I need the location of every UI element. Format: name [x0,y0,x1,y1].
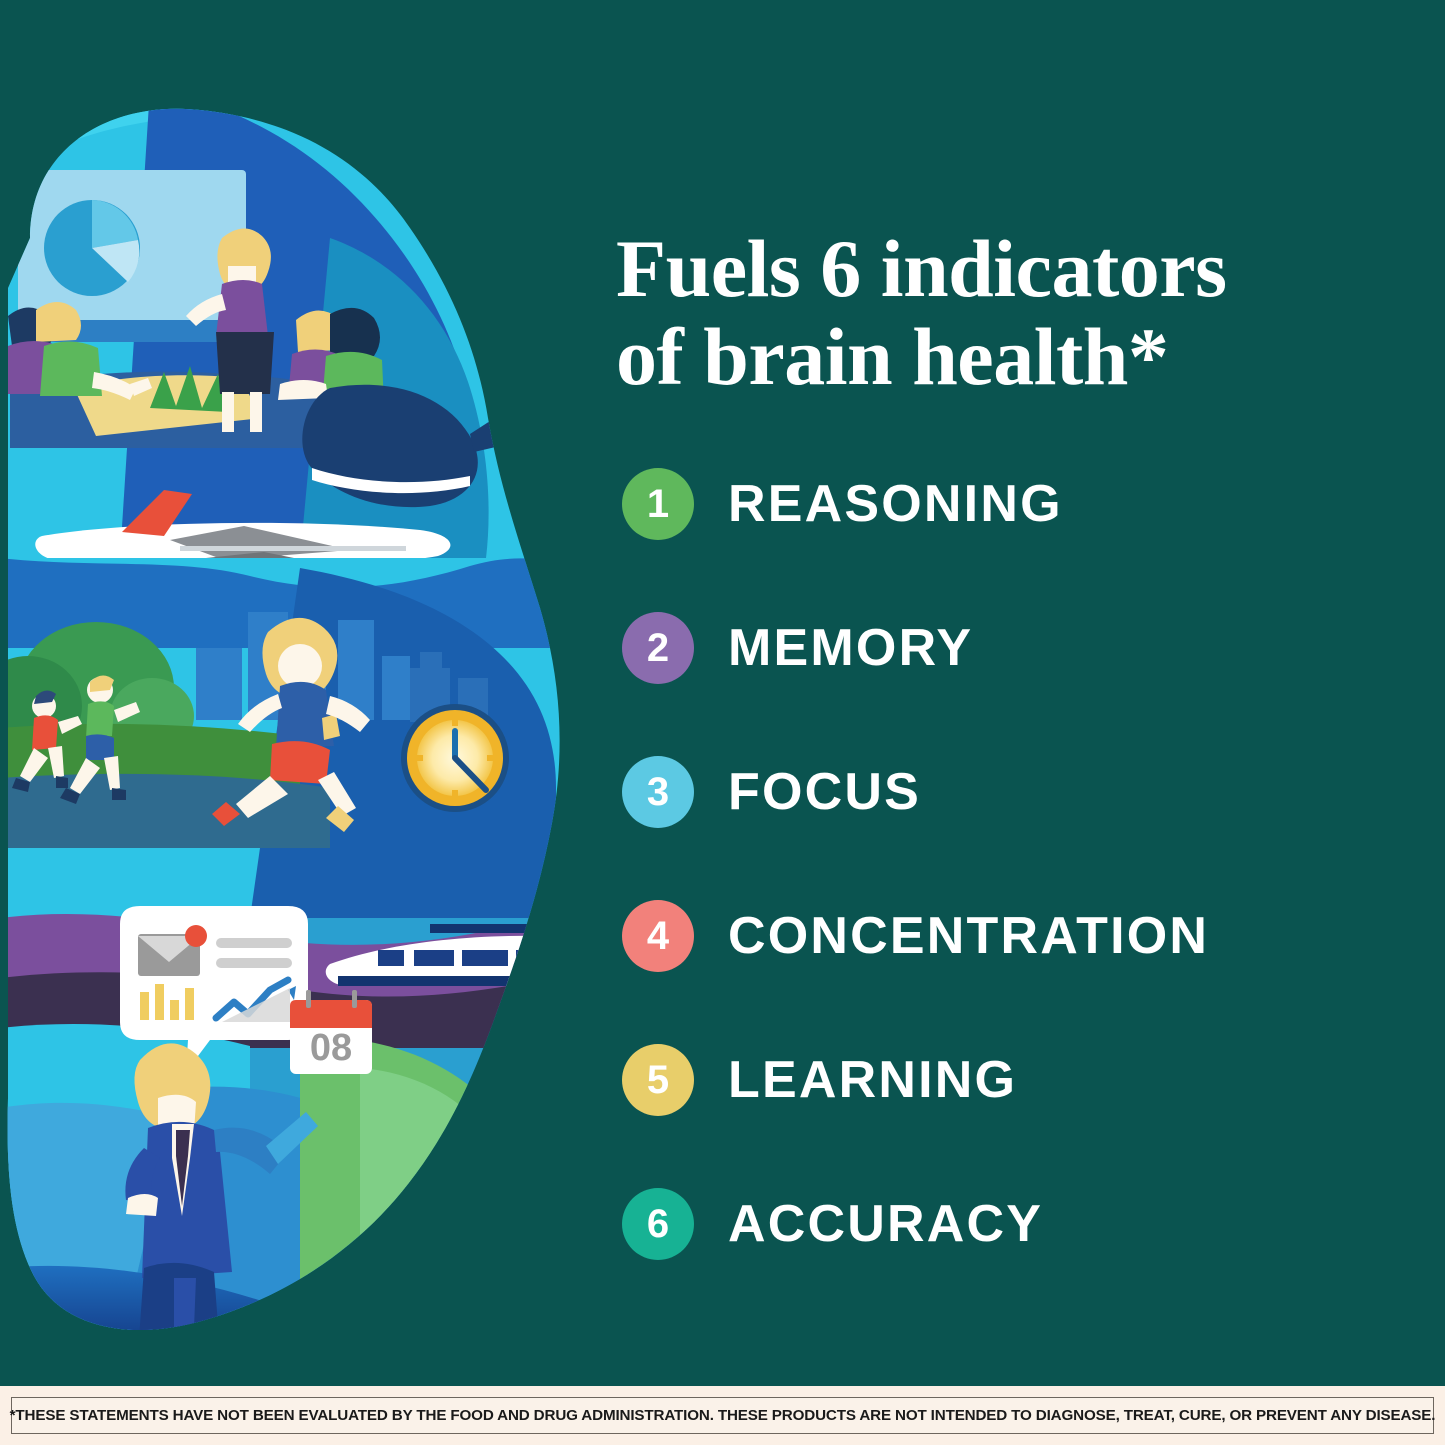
indicator-list: 1 REASONING 2 MEMORY 3 FOCUS 4 CONCENTRA… [622,455,1442,1319]
indicator-label-3: FOCUS [728,762,921,822]
indicator-item-memory: 2 MEMORY [622,599,1442,697]
indicator-item-reasoning: 1 REASONING [622,455,1442,553]
indicator-badge-4: 4 [622,900,694,972]
page-title: Fuels 6 indicators of brain health* [616,225,1416,402]
disclaimer-text: *THESE STATEMENTS HAVE NOT BEEN EVALUATE… [10,1407,1436,1424]
disclaimer-footer: *THESE STATEMENTS HAVE NOT BEEN EVALUATE… [0,1386,1445,1445]
indicator-item-concentration: 4 CONCENTRATION [622,887,1442,985]
indicator-item-focus: 3 FOCUS [622,743,1442,841]
content-column: Fuels 6 indicators of brain health* 1 RE… [608,0,1445,1390]
indicator-item-learning: 5 LEARNING [622,1031,1442,1129]
indicator-badge-6: 6 [622,1188,694,1260]
page-title-line-2: of brain health* [616,313,1416,402]
indicator-label-1: REASONING [728,474,1063,534]
poster-canvas: 08 [0,0,1445,1445]
indicator-badge-3: 3 [622,756,694,828]
brain-illustration: 08 [0,88,570,1378]
indicator-badge-1: 1 [622,468,694,540]
page-title-line-1: Fuels 6 indicators [616,223,1227,314]
indicator-label-6: ACCURACY [728,1194,1043,1254]
indicator-badge-2: 2 [622,612,694,684]
disclaimer-box: *THESE STATEMENTS HAVE NOT BEEN EVALUATE… [11,1397,1434,1434]
indicator-label-2: MEMORY [728,618,973,678]
indicator-badge-5: 5 [622,1044,694,1116]
indicator-label-5: LEARNING [728,1050,1017,1110]
indicator-label-4: CONCENTRATION [728,906,1209,966]
indicator-item-accuracy: 6 ACCURACY [622,1175,1442,1273]
